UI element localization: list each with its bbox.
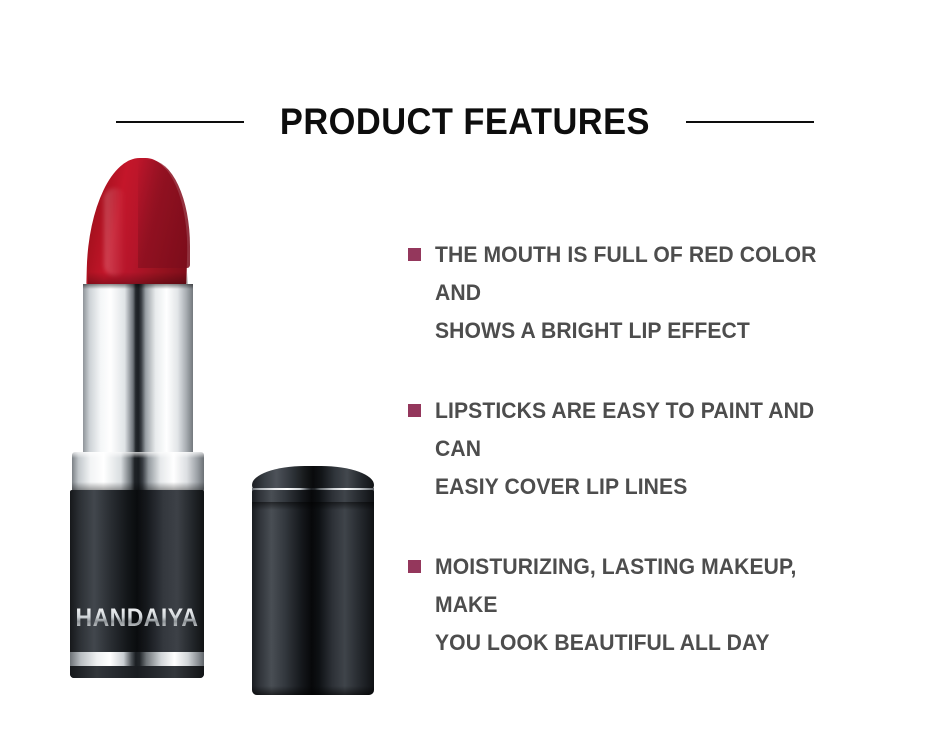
- feature-text: LIPSTICKS ARE EASY TO PAINT AND CAN EASI…: [435, 392, 860, 506]
- list-item: MOISTURIZING, LASTING MAKEUP, MAKE YOU L…: [408, 548, 878, 662]
- feature-line: LIPSTICKS ARE EASY TO PAINT AND CAN: [435, 392, 860, 468]
- product-features-image: PRODUCT FEATURES HANDAIYA THE MOUTH IS F…: [0, 0, 930, 748]
- lipstick-cap-illustration: [0, 0, 400, 748]
- list-item: THE MOUTH IS FULL OF RED COLOR AND SHOWS…: [408, 236, 878, 350]
- cap-body: [252, 490, 374, 695]
- bullet-square-icon: [408, 560, 421, 573]
- feature-text: MOISTURIZING, LASTING MAKEUP, MAKE YOU L…: [435, 548, 860, 662]
- bullet-square-icon: [408, 404, 421, 417]
- feature-line: THE MOUTH IS FULL OF RED COLOR AND: [435, 236, 860, 312]
- title-rule-right: [686, 121, 814, 123]
- feature-text: THE MOUTH IS FULL OF RED COLOR AND SHOWS…: [435, 236, 860, 350]
- feature-line: EASIY COVER LIP LINES: [435, 468, 860, 506]
- list-item: LIPSTICKS ARE EASY TO PAINT AND CAN EASI…: [408, 392, 878, 506]
- feature-line: MOISTURIZING, LASTING MAKEUP, MAKE: [435, 548, 860, 624]
- feature-line: SHOWS A BRIGHT LIP EFFECT: [435, 312, 860, 350]
- feature-line: YOU LOOK BEAUTIFUL ALL DAY: [435, 624, 860, 662]
- bullet-square-icon: [408, 248, 421, 261]
- cap-band-shadow: [252, 502, 374, 510]
- feature-list: THE MOUTH IS FULL OF RED COLOR AND SHOWS…: [408, 236, 878, 662]
- cap-foot: [252, 686, 374, 695]
